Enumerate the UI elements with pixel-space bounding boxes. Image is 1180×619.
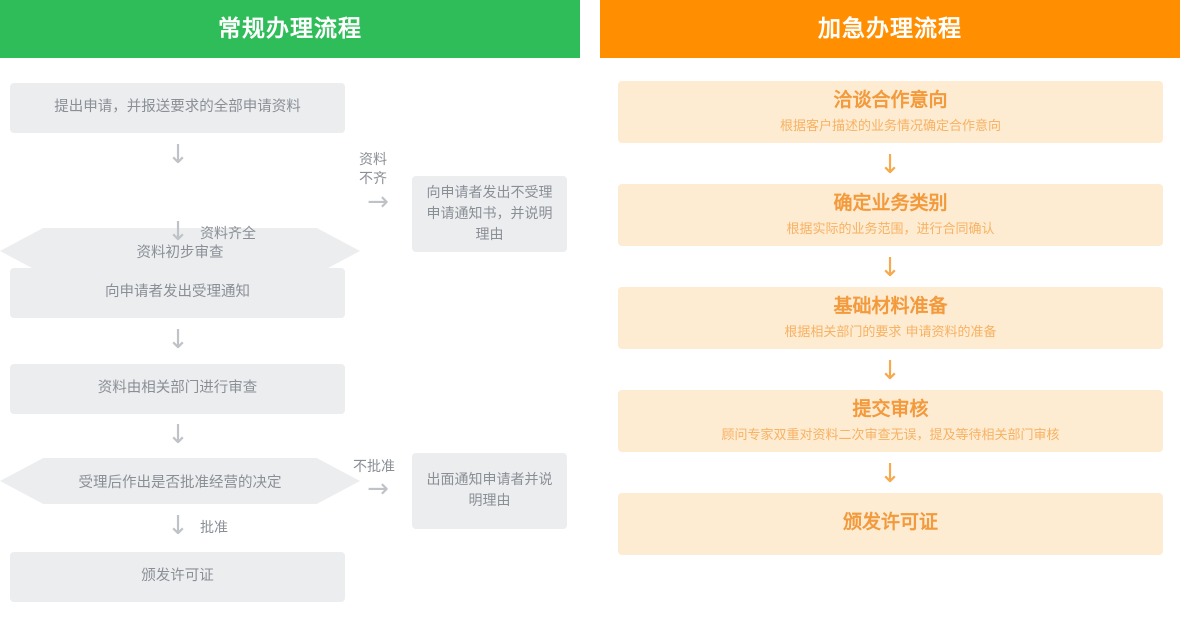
urgent-flow-column: 洽谈合作意向 根据客户描述的业务情况确定合作意向 ↓ 确定业务类别 根据实际的业… <box>600 58 1180 619</box>
urgent-step-card: 基础材料准备 根据相关部门的要求 申请资料的准备 <box>618 287 1163 349</box>
urgent-step-subtitle: 根据客户描述的业务情况确定合作意向 <box>780 117 1001 137</box>
flow-node-department-review: 资料由相关部门进行审查 <box>10 364 345 414</box>
flow-node-acceptance-notice: 向申请者发出受理通知 <box>10 268 345 318</box>
urgent-step-subtitle: 根据实际的业务范围，进行合同确认 <box>786 220 994 240</box>
flow-node-issue-license: 颁发许可证 <box>10 552 345 602</box>
standard-flow-column: 提出申请，并报送要求的全部申请资料 ↓ 资料初步审查 ↓ 资料齐全 向申请者发出… <box>0 58 590 619</box>
urgent-step-title: 基础材料准备 <box>833 294 947 320</box>
arrow-right-icon: → <box>357 476 399 502</box>
urgent-step-subtitle: 根据相关部门的要求 申请资料的准备 <box>784 323 996 343</box>
flowchart-page: 常规办理流程 加急办理流程 提出申请，并报送要求的全部申请资料 ↓ 资料初步审查… <box>0 0 1180 619</box>
urgent-step-title: 颁发许可证 <box>843 510 938 536</box>
arrow-down-icon: ↓ <box>160 327 196 353</box>
arrow-down-icon: ↓ <box>160 422 196 448</box>
standard-flow-header: 常规办理流程 <box>0 0 580 58</box>
edge-label-materials-complete: 资料齐全 <box>200 225 256 244</box>
urgent-step-title: 洽谈合作意向 <box>833 88 947 114</box>
flow-node-denial-notice: 出面通知申请者并说明理由 <box>412 453 567 529</box>
arrow-down-icon: ↓ <box>160 513 196 539</box>
edge-label-approved: 批准 <box>200 519 228 538</box>
urgent-flow-header: 加急办理流程 <box>600 0 1180 58</box>
flow-node-approval-decision: 受理后作出是否批准经营的决定 <box>0 458 360 504</box>
urgent-step-card: 洽谈合作意向 根据客户描述的业务情况确定合作意向 <box>618 81 1163 143</box>
urgent-step-title: 提交审核 <box>852 397 928 423</box>
flow-node-submit-application: 提出申请，并报送要求的全部申请资料 <box>10 83 345 133</box>
arrow-down-icon: ↓ <box>160 142 196 168</box>
urgent-step-card: 提交审核 顾问专家双重对资料二次审查无误，提及等待相关部门审核 <box>618 390 1163 452</box>
edge-label-materials-incomplete: 资料 不齐 <box>359 151 387 189</box>
urgent-step-card: 确定业务类别 根据实际的业务范围，进行合同确认 <box>618 184 1163 246</box>
urgent-step-card: 颁发许可证 <box>618 493 1163 555</box>
flow-node-rejection-notice: 向申请者发出不受理申请通知书，并说明理由 <box>412 176 567 252</box>
arrow-down-icon: ↓ <box>872 461 908 487</box>
urgent-step-subtitle: 顾问专家双重对资料二次审查无误，提及等待相关部门审核 <box>721 426 1059 446</box>
urgent-step-title: 确定业务类别 <box>833 191 947 217</box>
arrow-down-icon: ↓ <box>872 152 908 178</box>
arrow-down-icon: ↓ <box>872 358 908 384</box>
arrow-down-icon: ↓ <box>872 255 908 281</box>
arrow-down-icon: ↓ <box>160 219 196 245</box>
arrow-right-icon: → <box>357 189 399 215</box>
